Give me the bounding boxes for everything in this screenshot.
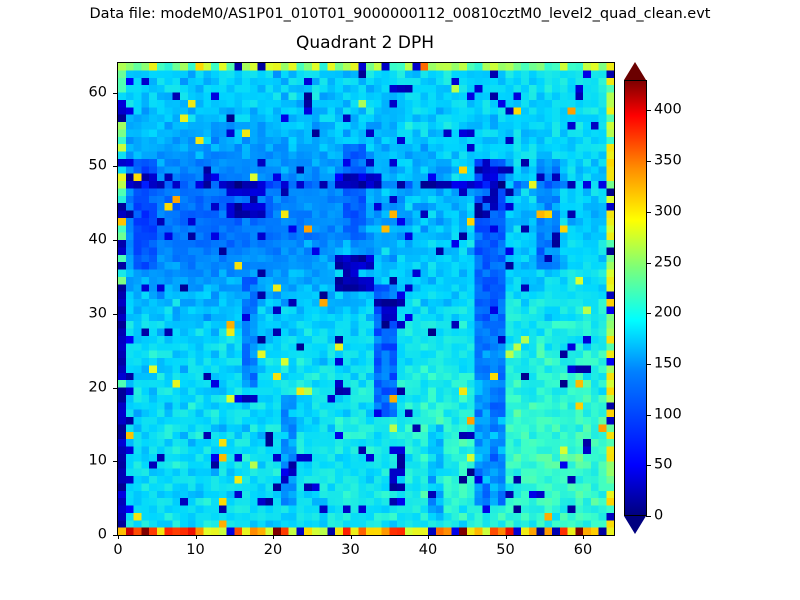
y-tick-label: 0 [57,527,107,544]
colorbar-tick-label: 300 [654,203,682,220]
y-tick-label: 60 [57,84,107,101]
colorbar-gradient [624,80,647,516]
x-tick-label: 30 [321,542,381,559]
y-tick-mark [113,461,117,462]
x-tick-label: 40 [398,542,458,559]
colorbar-under-arrow-icon [624,516,646,534]
colorbar-tick-label: 400 [654,102,682,119]
figure-canvas: Data file: modeM0/AS1P01_010T01_90000001… [0,0,800,600]
heatmap-image[interactable] [118,63,614,535]
x-tick-mark [506,535,507,539]
colorbar-over-arrow-icon [624,62,646,80]
colorbar-tick-mark [646,415,651,416]
x-tick-mark [196,535,197,539]
x-tick-mark [118,535,119,539]
colorbar-tick-mark [646,313,651,314]
colorbar-tick-mark [646,161,651,162]
colorbar[interactable] [624,62,647,534]
axes-title: Quadrant 2 DPH [117,33,613,54]
colorbar-tick-label: 100 [654,406,682,423]
y-tick-mark [113,93,117,94]
colorbar-tick-label: 350 [654,153,682,170]
y-tick-label: 20 [57,379,107,396]
colorbar-tick-mark [646,263,651,264]
data-file-suptitle: Data file: modeM0/AS1P01_010T01_90000001… [0,5,800,23]
x-tick-mark [351,535,352,539]
colorbar-tick-label: 200 [654,305,682,322]
y-tick-label: 50 [57,158,107,175]
y-tick-mark [113,166,117,167]
colorbar-tick-label: 50 [654,457,672,474]
y-tick-mark [113,314,117,315]
colorbar-tick-label: 250 [654,254,682,271]
colorbar-tick-label: 0 [654,508,663,525]
x-tick-label: 10 [166,542,226,559]
x-tick-mark [583,535,584,539]
y-tick-mark [113,535,117,536]
y-tick-mark [113,240,117,241]
x-tick-label: 50 [476,542,536,559]
x-tick-label: 20 [243,542,303,559]
y-tick-label: 10 [57,453,107,470]
colorbar-tick-mark [646,110,651,111]
y-tick-label: 40 [57,232,107,249]
x-tick-label: 0 [88,542,148,559]
y-tick-label: 30 [57,305,107,322]
x-tick-mark [273,535,274,539]
x-tick-mark [428,535,429,539]
x-tick-label: 60 [553,542,613,559]
heatmap-axes[interactable] [117,62,615,536]
colorbar-tick-mark [646,364,651,365]
colorbar-tick-label: 150 [654,355,682,372]
colorbar-tick-mark [646,465,651,466]
y-tick-mark [113,388,117,389]
colorbar-tick-mark [646,212,651,213]
colorbar-tick-mark [646,516,651,517]
